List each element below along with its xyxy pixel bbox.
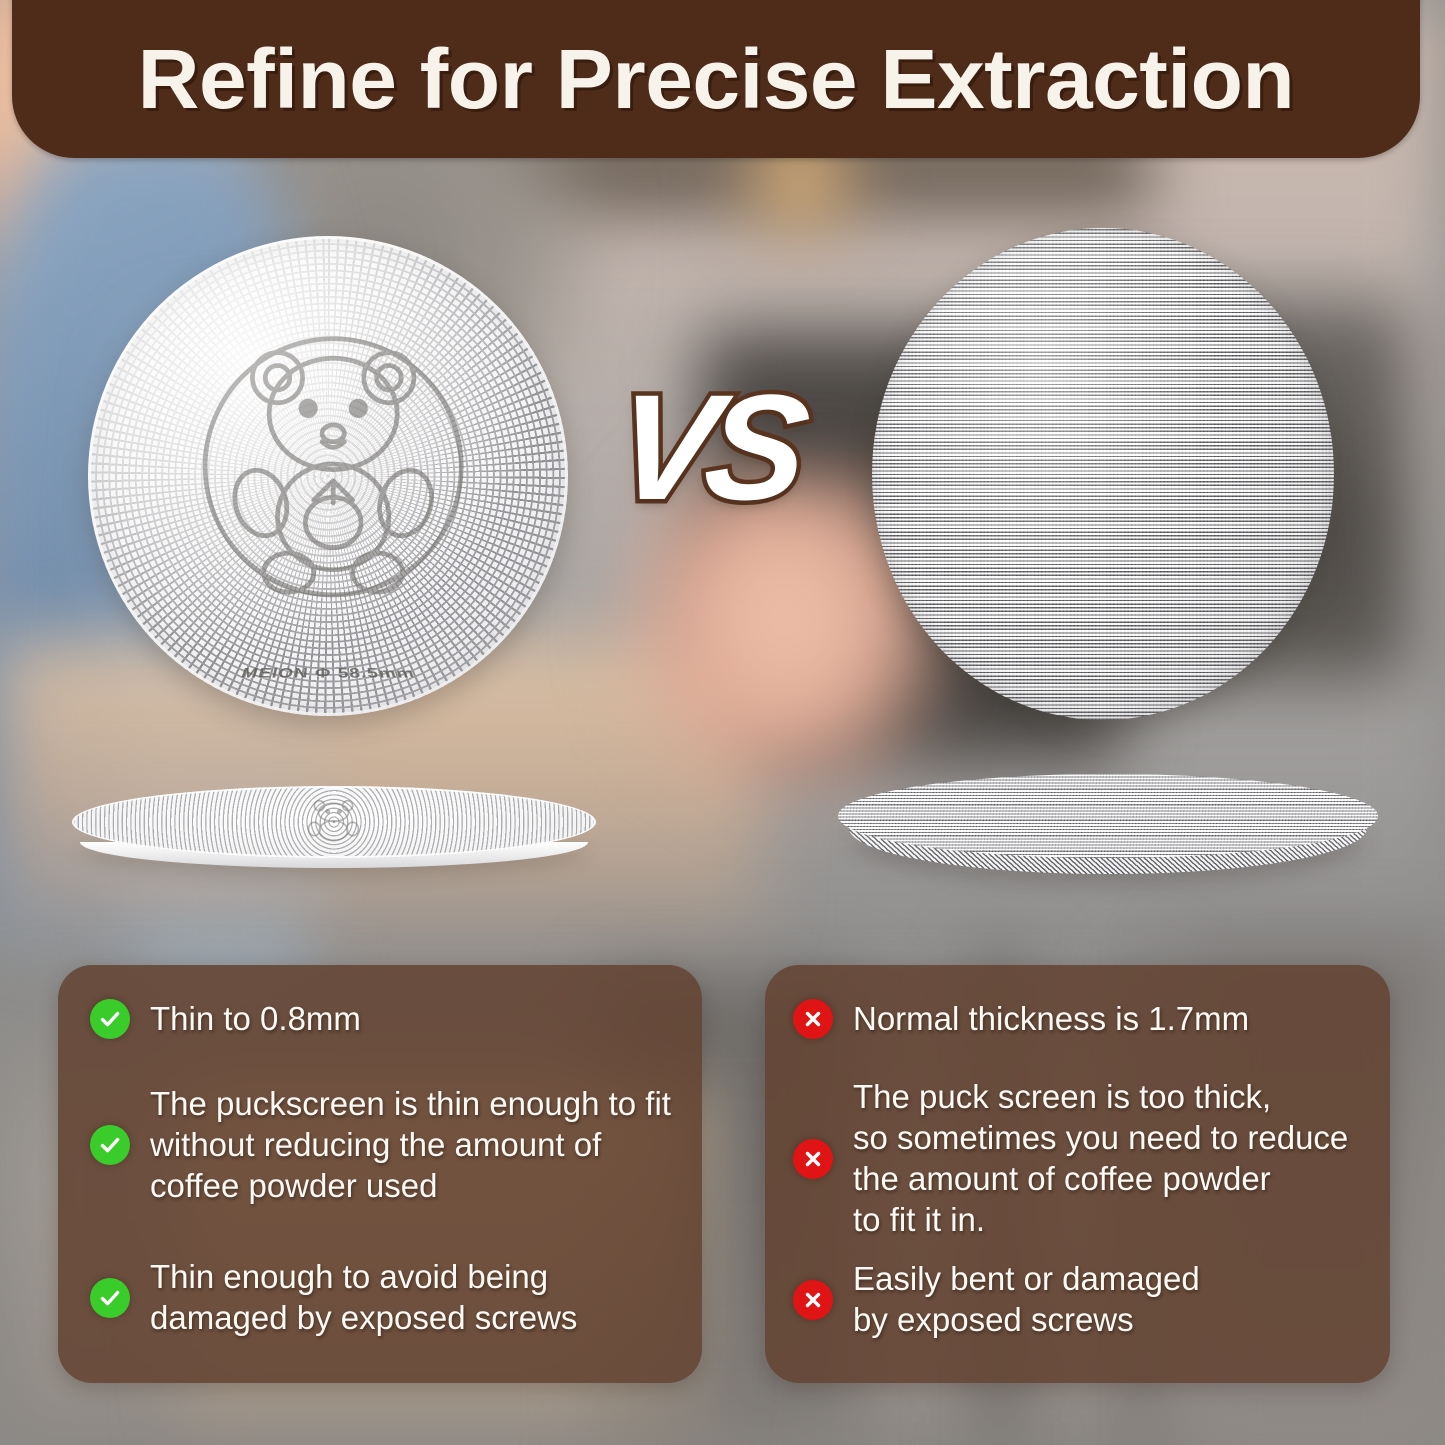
perforated-puck-screen-side-view (72, 786, 596, 878)
pros-list-item: Thin to 0.8mm (90, 999, 361, 1040)
cross-icon (793, 1280, 833, 1320)
versus-badge: VS (608, 372, 807, 522)
check-icon (90, 1278, 130, 1318)
cons-list-item: Easily bent or damaged by exposed screws (793, 1259, 1200, 1341)
woven-mesh-screen-side-view (838, 774, 1378, 882)
cons-panel: Normal thickness is 1.7mm The puck scree… (765, 965, 1390, 1383)
pros-list-item: Thin enough to avoid being damaged by ex… (90, 1257, 577, 1339)
cross-icon (793, 999, 833, 1039)
cross-icon (793, 1139, 833, 1179)
cons-item-text: The puck screen is too thick, so sometim… (853, 1077, 1348, 1241)
perforated-puck-screen-top-view: MEION Φ 58.5mm (88, 236, 568, 716)
cons-list-item: Normal thickness is 1.7mm (793, 999, 1249, 1040)
check-icon (90, 1125, 130, 1165)
pros-item-text: The puckscreen is thin enough to fit wit… (150, 1084, 671, 1207)
header-banner: Refine for Precise Extraction (12, 0, 1420, 158)
pros-list-item: The puckscreen is thin enough to fit wit… (90, 1084, 671, 1207)
woven-mesh-screen-top-view (872, 228, 1334, 720)
pros-item-text: Thin to 0.8mm (150, 999, 361, 1040)
bear-engraving-side-icon (240, 794, 429, 844)
pros-panel: Thin to 0.8mm The puckscreen is thin eno… (58, 965, 702, 1383)
mesh-sheen-overlay (872, 228, 1334, 720)
cons-item-text: Normal thickness is 1.7mm (853, 999, 1249, 1040)
page-title: Refine for Precise Extraction (138, 23, 1295, 121)
infographic-canvas: Refine for Precise Extraction (0, 0, 1445, 1445)
pros-item-text: Thin enough to avoid being damaged by ex… (150, 1257, 577, 1339)
disc-engraved-label: MEION Φ 58.5mm (79, 666, 576, 682)
thick-disc-face (838, 774, 1378, 858)
bear-engraving-icon (194, 318, 472, 616)
check-icon (90, 999, 130, 1039)
cons-list-item: The puck screen is too thick, so sometim… (793, 1077, 1348, 1241)
cons-item-text: Easily bent or damaged by exposed screws (853, 1259, 1200, 1341)
